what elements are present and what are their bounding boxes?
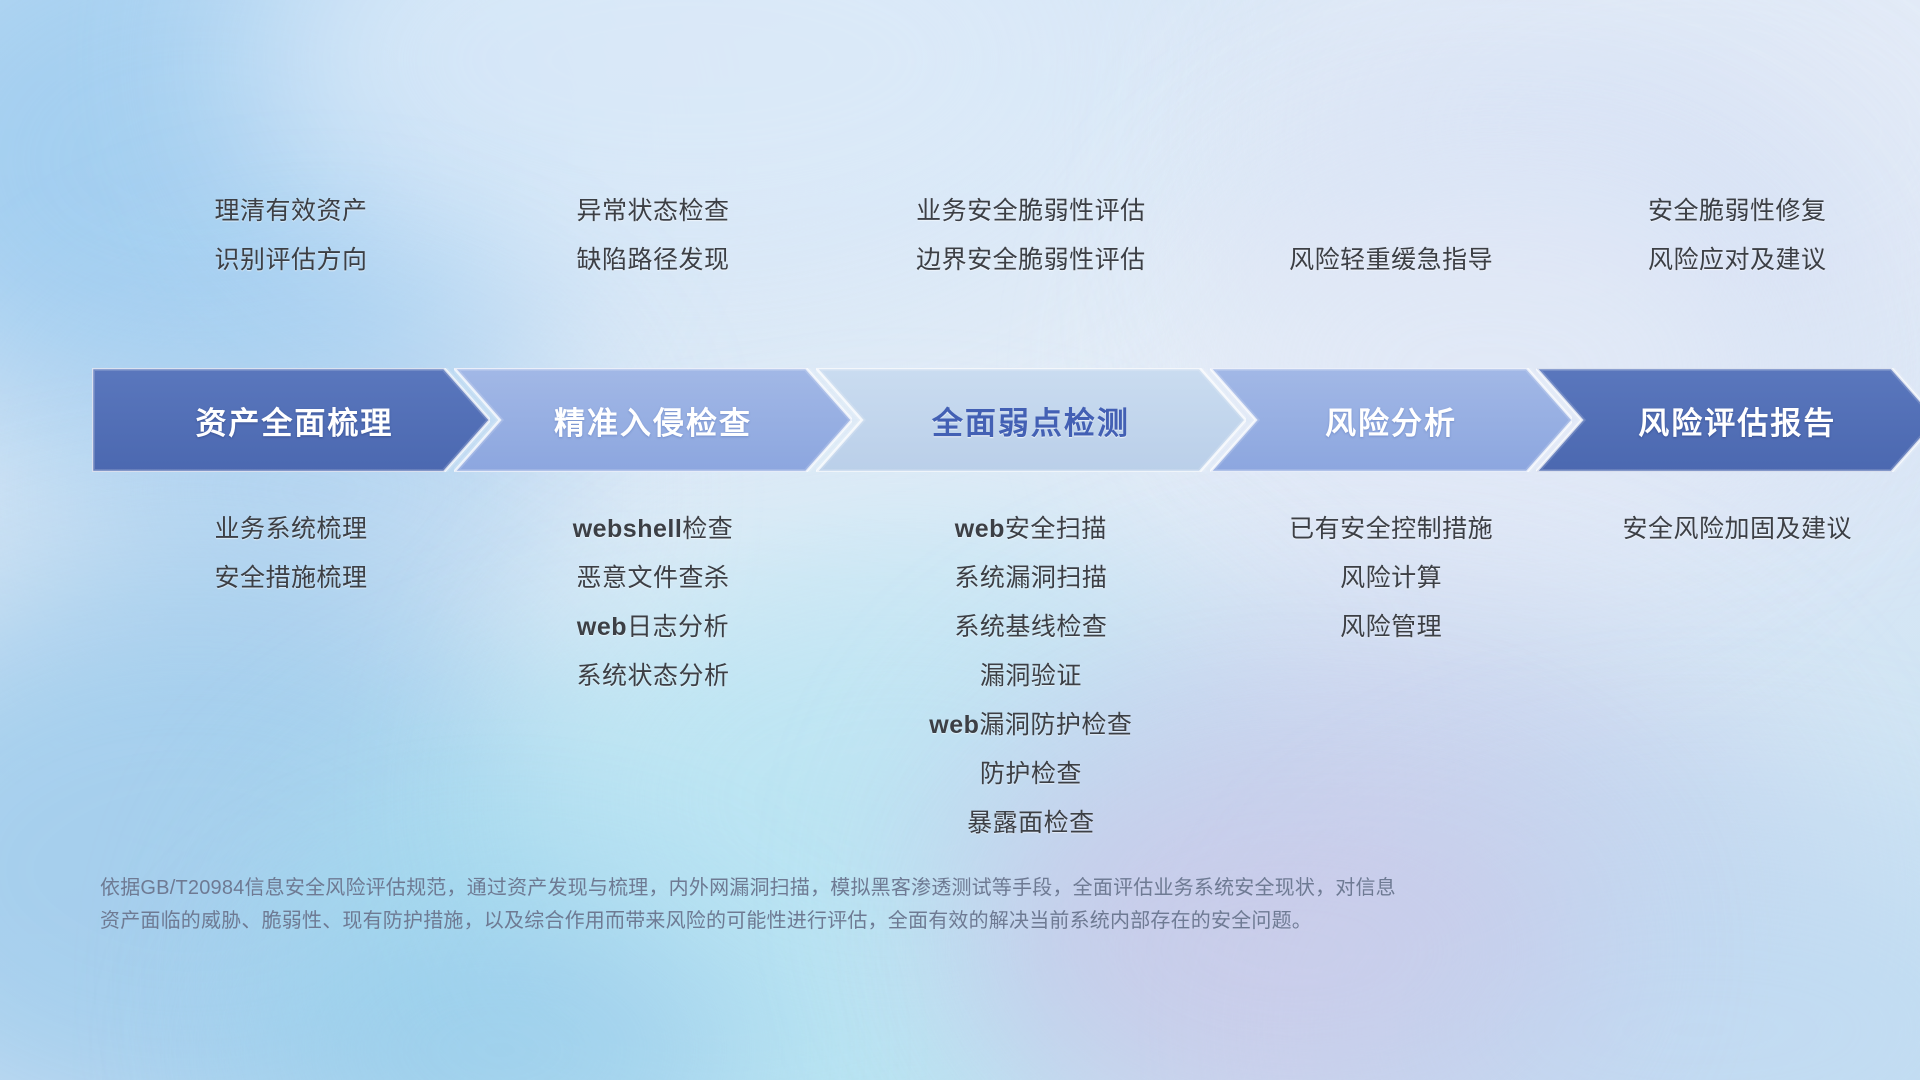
footer-description: 依据GB/T20984信息安全风险评估规范，通过资产发现与梳理，内外网漏洞扫描，…: [100, 872, 1640, 938]
stage-detail-item-latin: webshell: [573, 515, 683, 543]
stage-top-item: 安全脆弱性修复: [1437, 187, 1920, 236]
process-step-assessment-report[interactable]: 风险评估报告: [1536, 368, 1920, 472]
stage-detail-item-latin: web: [955, 515, 1005, 543]
process-step-label: 全面弱点检测: [932, 398, 1130, 443]
stage-detail-item: 防护检查: [731, 750, 1331, 799]
process-step-risk-analysis[interactable]: 风险分析: [1210, 368, 1573, 472]
process-step-label: 风险评估报告: [1638, 398, 1836, 443]
stage-detail-item: 风险计算: [1091, 554, 1691, 603]
process-step-asset-inventory[interactable]: 资产全面梳理: [92, 368, 490, 472]
stage-detail-item-latin: web: [577, 613, 627, 641]
stage-detail-list-assessment-report: 安全风险加固及建议: [1437, 505, 1920, 554]
stage-detail-item: 漏洞验证: [731, 652, 1331, 701]
stage-detail-item: 风险管理: [1091, 603, 1691, 652]
footer-line-2: 资产面临的威胁、脆弱性、现有防护措施，以及综合作用而带来风险的可能性进行评估，全…: [100, 905, 1640, 938]
process-step-intrusion-check[interactable]: 精准入侵检查: [454, 368, 852, 472]
stage-detail-item: 暴露面检查: [731, 799, 1331, 848]
process-step-label: 资产全面梳理: [195, 398, 393, 443]
footer-line-1: 依据GB/T20984信息安全风险评估规范，通过资产发现与梳理，内外网漏洞扫描，…: [100, 872, 1640, 905]
slide-canvas: 理清有效资产识别评估方向异常状态检查缺陷路径发现业务安全脆弱性评估边界安全脆弱性…: [0, 0, 1920, 1080]
process-chevron-band: 资产全面梳理精准入侵检查全面弱点检测风险分析风险评估报告: [92, 368, 1852, 472]
stage-top-item: 风险应对及建议: [1437, 236, 1920, 285]
process-step-label: 风险分析: [1325, 398, 1457, 443]
stage-detail-item: web漏洞防护检查: [731, 701, 1331, 750]
stage-detail-item: 安全风险加固及建议: [1437, 505, 1920, 554]
stage-top-item: 业务安全脆弱性评估: [731, 187, 1331, 236]
process-step-weakness-detection[interactable]: 全面弱点检测: [816, 368, 1246, 472]
stage-detail-item-latin: web: [929, 711, 979, 739]
process-step-label: 精准入侵检查: [554, 398, 752, 443]
